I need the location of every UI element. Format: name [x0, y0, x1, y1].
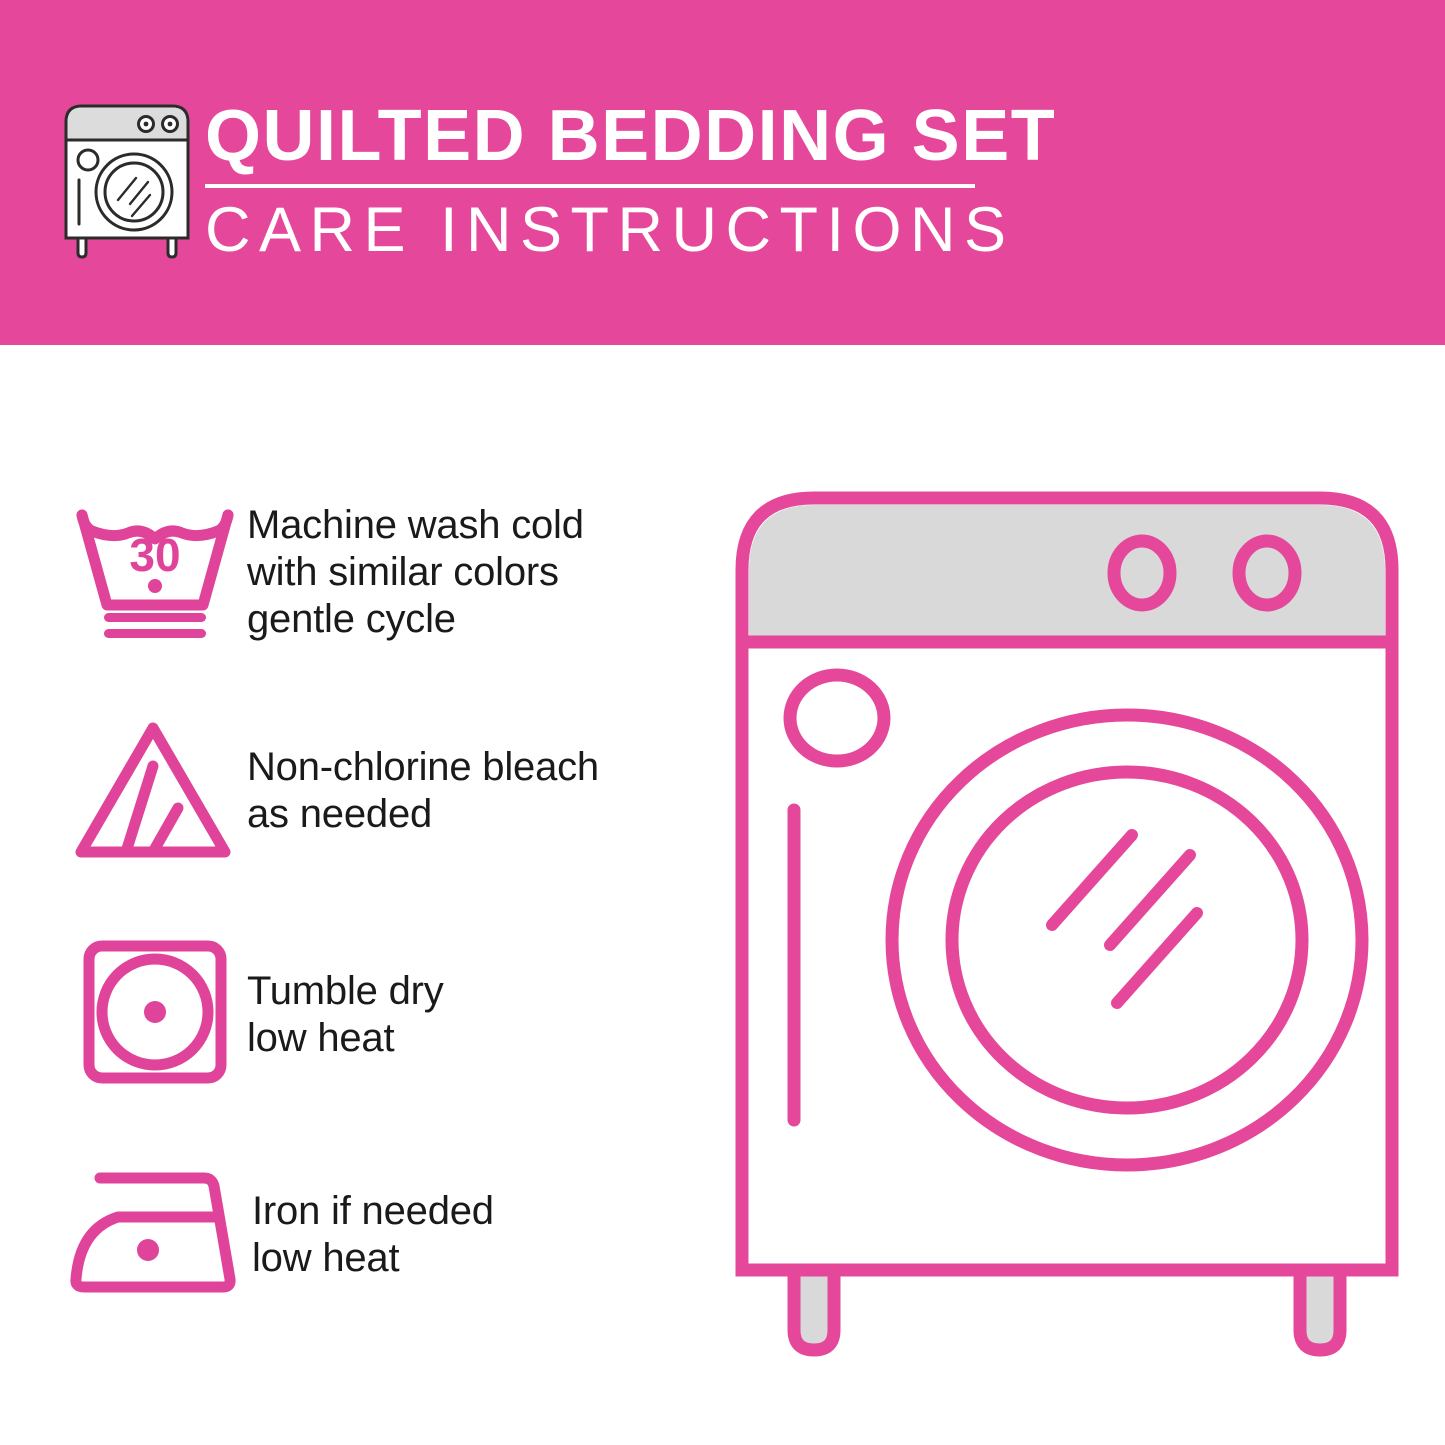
instruction-line: Non-chlorine bleach [247, 744, 682, 791]
care-instructions-page: QUILTED BEDDING SET CARE INSTRUCTIONS 30 [0, 0, 1445, 1445]
dial-right [1239, 541, 1295, 605]
instruction-line: low heat [247, 1015, 682, 1062]
drum-door-inner [952, 772, 1302, 1108]
large-washing-machine-illustration [722, 470, 1412, 1370]
tumble-dry-low-heat-icon [62, 924, 247, 1099]
instruction-line: Tumble dry [247, 968, 682, 1015]
instruction-list: 30 Machine wash cold with similar colors… [62, 480, 682, 1368]
instruction-label: Tumble dry low heat [247, 924, 682, 1062]
header-text-block: QUILTED BEDDING SET CARE INSTRUCTIONS [205, 97, 995, 266]
instruction-line: Iron if needed [252, 1188, 682, 1235]
instruction-label: Machine wash cold with similar colors ge… [247, 480, 682, 643]
instruction-label: Non-chlorine bleach as needed [247, 702, 682, 838]
non-chlorine-bleach-triangle-icon [62, 702, 247, 877]
page-subtitle: CARE INSTRUCTIONS [205, 194, 995, 266]
header-divider [205, 184, 975, 188]
header-band: QUILTED BEDDING SET CARE INSTRUCTIONS [0, 0, 1445, 345]
instruction-label: Iron if needed low heat [252, 1146, 682, 1282]
instruction-row: Iron if needed low heat [62, 1146, 682, 1368]
instruction-row: Tumble dry low heat [62, 924, 682, 1146]
washing-machine-icon [62, 100, 192, 260]
instruction-line: as needed [247, 791, 682, 838]
detergent-port [790, 675, 884, 761]
leg-right [1300, 1270, 1340, 1350]
instruction-row: Non-chlorine bleach as needed [62, 702, 682, 924]
instruction-row: 30 Machine wash cold with similar colors… [62, 480, 682, 702]
wash-tub-30-gentle-icon: 30 [62, 480, 247, 655]
iron-low-heat-icon [62, 1146, 252, 1321]
instruction-line: gentle cycle [247, 596, 682, 643]
leg-left [794, 1270, 834, 1350]
instruction-line: low heat [252, 1235, 682, 1282]
instruction-line: with similar colors [247, 549, 682, 596]
wash-temperature-value: 30 [129, 529, 180, 581]
instruction-line: Machine wash cold [247, 502, 682, 549]
page-title: QUILTED BEDDING SET [205, 97, 995, 175]
dial-left [1114, 541, 1170, 605]
